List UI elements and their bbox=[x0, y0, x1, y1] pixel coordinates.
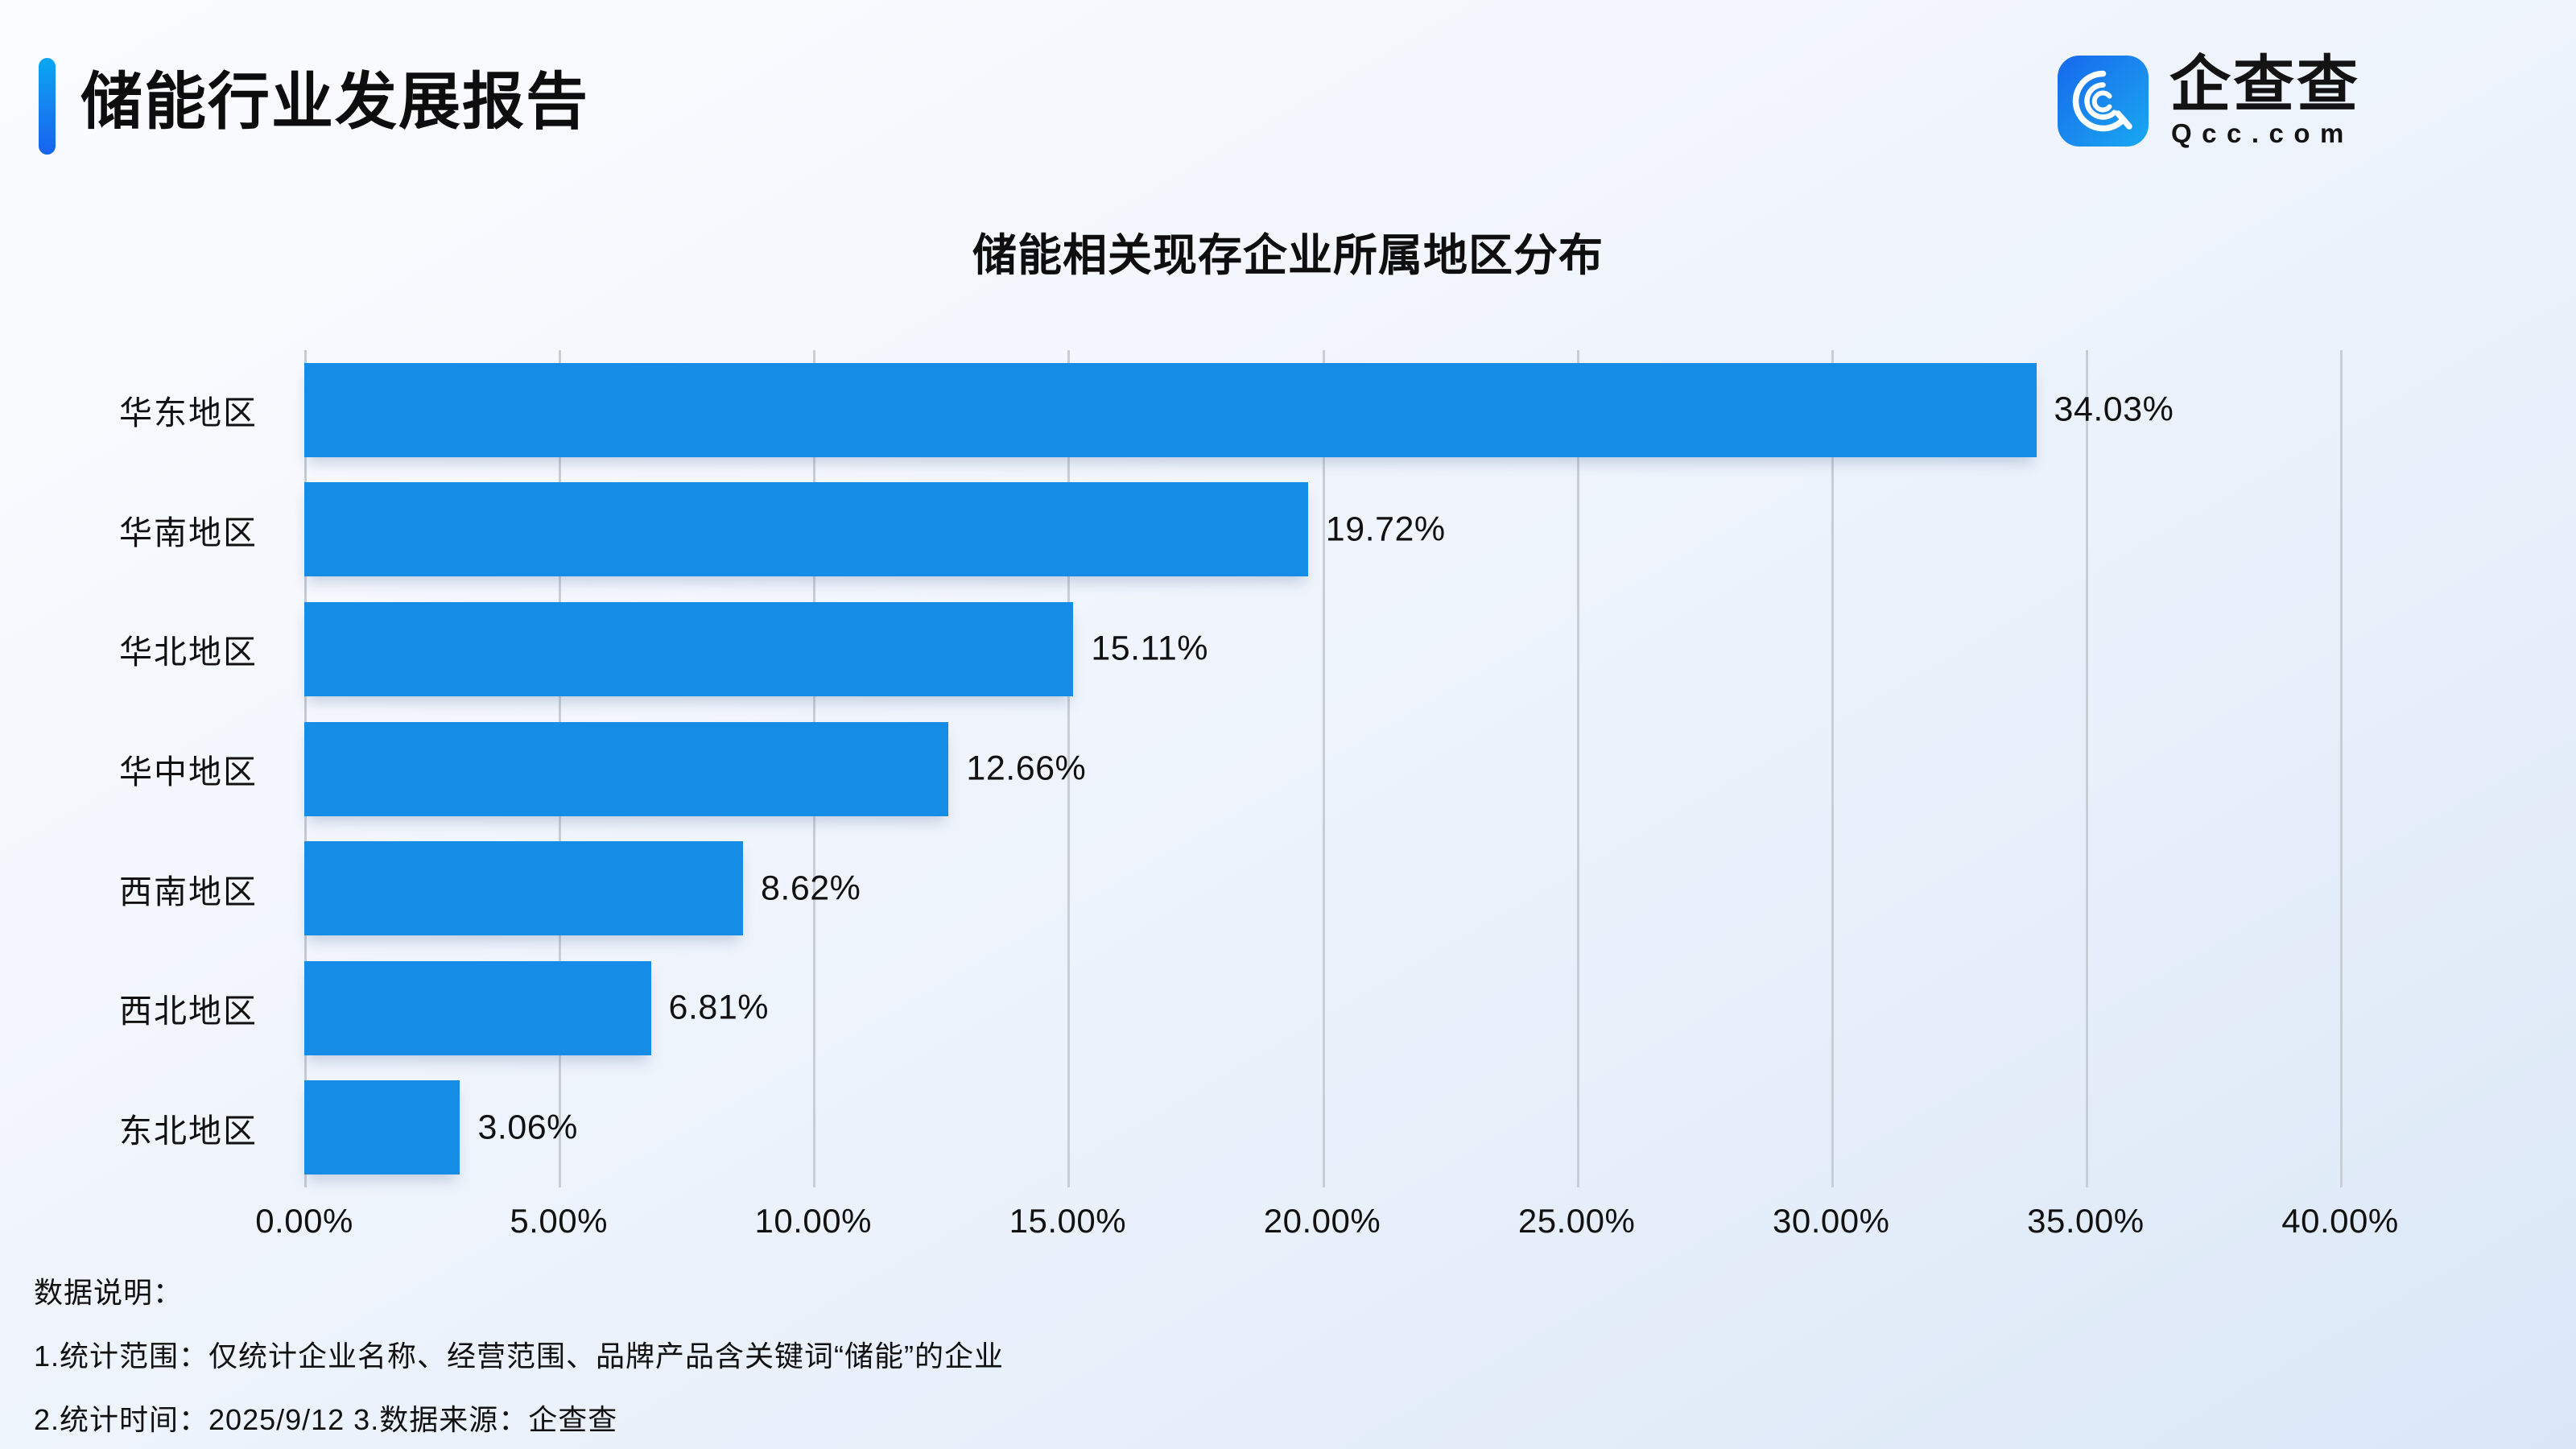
chart-bar-row[interactable]: 34.03% bbox=[304, 363, 2340, 457]
chart-category-slot: 华东地区 bbox=[0, 363, 258, 457]
chart-bar-value-label: 8.62% bbox=[761, 869, 861, 908]
chart-x-tick-label: 10.00% bbox=[755, 1202, 872, 1241]
chart-bar-value-label: 34.03% bbox=[2054, 390, 2174, 430]
chart-bar-row[interactable]: 3.06% bbox=[304, 1080, 2340, 1174]
page-header: 储能行业发展报告 企查查 Qcc.com bbox=[0, 0, 2576, 201]
chart-category-slot: 华南地区 bbox=[0, 482, 258, 576]
chart-category-slot: 华中地区 bbox=[0, 722, 258, 816]
chart-x-tick-label: 35.00% bbox=[2027, 1202, 2144, 1241]
chart-x-tick-label: 30.00% bbox=[1773, 1202, 1889, 1241]
chart-bar-row[interactable]: 8.62% bbox=[304, 841, 2340, 935]
brand-name-cn: 企查查 bbox=[2169, 50, 2360, 121]
title-accent-bar bbox=[39, 58, 56, 155]
chart-category-label: 西北地区 bbox=[119, 984, 258, 1032]
chart-bar[interactable] bbox=[304, 841, 743, 935]
chart-category-slot: 西北地区 bbox=[0, 961, 258, 1055]
chart-gridline bbox=[2340, 350, 2343, 1187]
chart-bar-value-label: 6.81% bbox=[669, 989, 769, 1028]
chart-title: 储能相关现存企业所属地区分布 bbox=[0, 219, 2576, 283]
chart-bar-value-label: 19.72% bbox=[1326, 510, 1446, 549]
chart-x-tick-label: 40.00% bbox=[2281, 1202, 2398, 1241]
chart-bar[interactable] bbox=[304, 482, 1308, 576]
chart-bar-value-label: 12.66% bbox=[966, 749, 1086, 789]
chart-category-label: 华中地区 bbox=[119, 745, 258, 793]
chart-bar[interactable] bbox=[304, 1080, 460, 1174]
chart-x-tick-label: 15.00% bbox=[1009, 1202, 1126, 1241]
chart-category-label: 华东地区 bbox=[119, 386, 258, 434]
chart-x-tick-label: 25.00% bbox=[1518, 1202, 1635, 1241]
notes-heading: 数据说明： bbox=[34, 1274, 2127, 1311]
chart-x-tick-label: 20.00% bbox=[1264, 1202, 1381, 1241]
chart-category-slot: 华北地区 bbox=[0, 602, 258, 696]
brand-logo[interactable]: 企查查 Qcc.com bbox=[2058, 47, 2491, 155]
chart-bar-row[interactable]: 6.81% bbox=[304, 961, 2340, 1055]
chart-category-slot: 西南地区 bbox=[0, 841, 258, 935]
chart-bar-row[interactable]: 19.72% bbox=[304, 482, 2340, 576]
chart-bar-value-label: 15.11% bbox=[1091, 630, 1208, 669]
brand-name-en: Qcc.com bbox=[2171, 119, 2354, 148]
chart-x-tick-label: 5.00% bbox=[510, 1202, 608, 1241]
note-scope: 1.统计范围：仅统计企业名称、经营范围、品牌产品含关键词“储能”的企业 bbox=[34, 1338, 2127, 1375]
chart-bar-value-label: 3.06% bbox=[477, 1108, 577, 1147]
chart-y-axis-labels: 华东地区华南地区华北地区华中地区西南地区西北地区东北地区 bbox=[0, 350, 282, 1187]
chart-x-axis-labels: 0.00%5.00%10.00%15.00%20.00%25.00%30.00%… bbox=[0, 1202, 2576, 1258]
chart-category-label: 华北地区 bbox=[119, 625, 258, 673]
chart-bar[interactable] bbox=[304, 602, 1073, 696]
chart-bar[interactable] bbox=[304, 722, 948, 816]
chart-bar[interactable] bbox=[304, 363, 2037, 457]
chart-category-label: 东北地区 bbox=[119, 1104, 258, 1152]
chart-bar[interactable] bbox=[304, 961, 651, 1055]
page-title: 储能行业发展报告 bbox=[80, 50, 589, 155]
brand-text: 企查查 Qcc.com bbox=[2169, 53, 2491, 150]
qcc-logo-icon bbox=[2058, 56, 2149, 147]
chart-bar-row[interactable]: 15.11% bbox=[304, 602, 2340, 696]
chart-x-tick-label: 0.00% bbox=[255, 1202, 353, 1241]
chart-plot-area: 34.03%19.72%15.11%12.66%8.62%6.81%3.06% bbox=[304, 350, 2340, 1187]
chart-category-label: 西南地区 bbox=[119, 865, 258, 913]
chart-category-slot: 东北地区 bbox=[0, 1080, 258, 1174]
note-time-source: 2.统计时间：2025/9/12 3.数据来源：企查查 bbox=[34, 1402, 2127, 1439]
chart-category-label: 华南地区 bbox=[119, 506, 258, 554]
chart-bar-row[interactable]: 12.66% bbox=[304, 722, 2340, 816]
footer-notes: 数据说明： 1.统计范围：仅统计企业名称、经营范围、品牌产品含关键词“储能”的企… bbox=[34, 1274, 2127, 1439]
